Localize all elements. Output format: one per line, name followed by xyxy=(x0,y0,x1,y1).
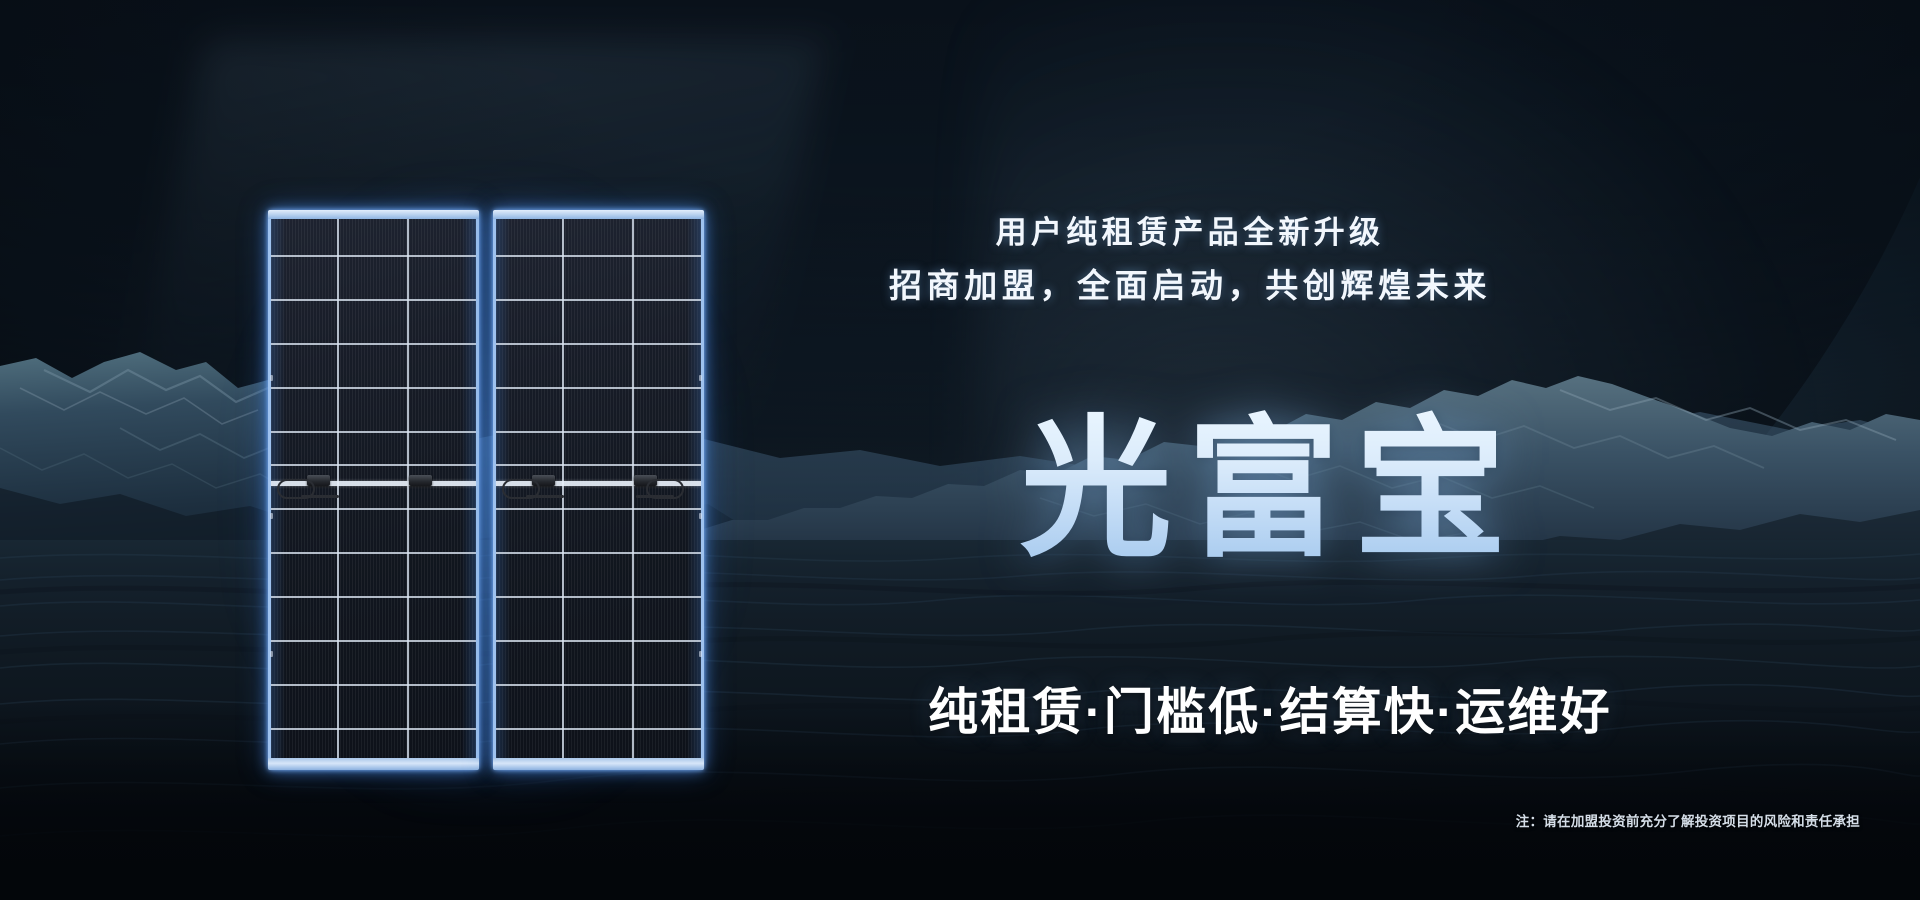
panel-cable xyxy=(301,495,339,498)
panel-frame-top xyxy=(268,210,479,219)
panel-frame-bottom xyxy=(493,758,704,770)
solar-panel-right xyxy=(493,210,704,770)
headline-line-2: 招商加盟，全面启动，共创辉煌未来 xyxy=(760,259,1620,307)
panel-frame-top xyxy=(493,210,704,219)
solar-panel-assembly xyxy=(268,210,704,776)
headline-line-1: 用户纯租赁产品全新升级 xyxy=(760,207,1620,252)
panel-frame-bottom xyxy=(268,758,479,770)
disclaimer-note: 注：请在加盟投资前充分了解投资项目的风险和责任承担 xyxy=(1200,810,1860,830)
panel-cable xyxy=(526,495,564,498)
panel-cable xyxy=(636,495,674,498)
brand-logo-text: 光富宝 xyxy=(1020,405,1660,575)
junction-box xyxy=(409,475,432,486)
tagline-text: 纯租赁·门槛低·结算快·运维好 xyxy=(830,672,1710,744)
poster-canvas: 用户纯租赁产品全新升级 招商加盟，全面启动，共创辉煌未来 光富宝 纯租赁·门槛低… xyxy=(0,0,1920,900)
solar-panel-left xyxy=(268,210,479,770)
